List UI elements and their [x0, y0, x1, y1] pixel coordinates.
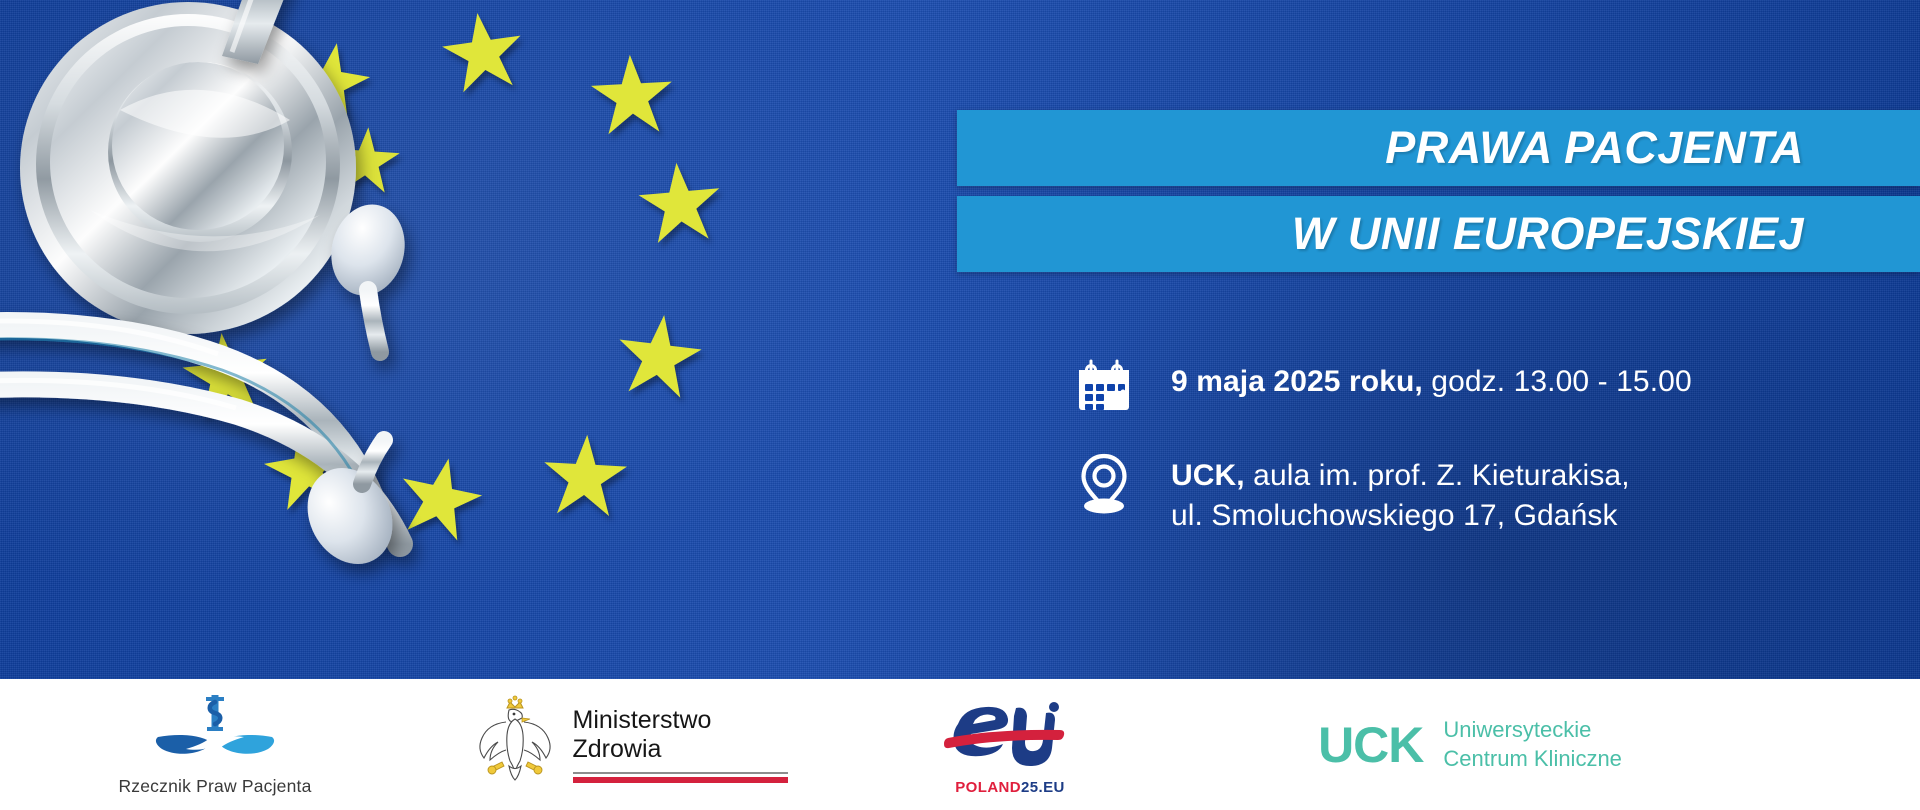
polish-eagle-emblem	[473, 694, 557, 795]
logo-ministerstwo-zdrowia: Ministerstwo Zdrowia	[430, 679, 830, 810]
poland25-caption-red: POLAND	[955, 779, 1021, 796]
title-bar-line1: PRAWA PACJENTA	[957, 110, 1920, 186]
map-pin-icon	[1073, 452, 1135, 514]
logo-uck: UCK Uniwersyteckie Centrum Kliniczne	[1190, 679, 1750, 810]
poland25-eu-caption: POLAND25.EU	[955, 779, 1064, 796]
event-location-line2: ul. Smoluchowskiego 17, Gdańsk	[1171, 496, 1630, 536]
logo-poland25-eu: POLAND25.EU	[830, 679, 1190, 810]
title-line1: PRAWA PACJENTA	[1385, 122, 1920, 174]
title-bar-line2: W UNII EUROPEJSKIEJ	[957, 196, 1920, 272]
poland25-eu-logo	[944, 694, 1076, 777]
rzecznik-praw-pacjenta-caption: Rzecznik Praw Pacjenta	[118, 776, 311, 797]
ministry-name-line1: Ministerstwo	[573, 706, 788, 735]
uck-name-line2: Centrum Kliniczne	[1443, 745, 1622, 773]
event-details: 9 maja 2025 roku, godz. 13.00 - 15.00 UC…	[1073, 358, 1853, 573]
logo-rzecznik-praw-pacjenta: Rzecznik Praw Pacjenta	[0, 679, 430, 810]
banner-stage: PRAWA PACJENTA W UNII EUROPEJSKIEJ	[0, 0, 1920, 679]
ministry-name-line2: Zdrowia	[573, 735, 788, 764]
event-time: godz. 13.00 - 15.00	[1423, 365, 1692, 398]
uck-name-line1: Uniwersyteckie	[1443, 716, 1622, 744]
event-date-row: 9 maja 2025 roku, godz. 13.00 - 15.00	[1073, 358, 1853, 414]
uck-mark: UCK	[1318, 720, 1423, 770]
event-date-bold: 9 maja 2025 roku,	[1171, 365, 1423, 398]
stethoscope-illustration	[0, 0, 610, 620]
event-location-text: UCK, aula im. prof. Z. Kieturakisa, ul. …	[1171, 452, 1630, 535]
poland25-caption-navy: 25.EU	[1021, 779, 1065, 796]
ministry-rule	[573, 772, 788, 783]
partner-logo-strip: Rzecznik Praw Pacjenta	[0, 679, 1920, 810]
title-line2: W UNII EUROPEJSKIEJ	[1292, 208, 1920, 260]
event-banner: PRAWA PACJENTA W UNII EUROPEJSKIEJ	[0, 0, 1920, 810]
event-date-text: 9 maja 2025 roku, godz. 13.00 - 15.00	[1171, 358, 1692, 402]
calendar-icon	[1073, 358, 1135, 414]
event-venue-rest: aula im. prof. Z. Kieturakisa,	[1245, 459, 1630, 492]
rzecznik-praw-pacjenta-logo	[140, 693, 290, 770]
event-location-line1: UCK, aula im. prof. Z. Kieturakisa,	[1171, 456, 1630, 496]
event-venue-bold: UCK,	[1171, 459, 1245, 492]
event-location-row: UCK, aula im. prof. Z. Kieturakisa, ul. …	[1073, 452, 1853, 535]
